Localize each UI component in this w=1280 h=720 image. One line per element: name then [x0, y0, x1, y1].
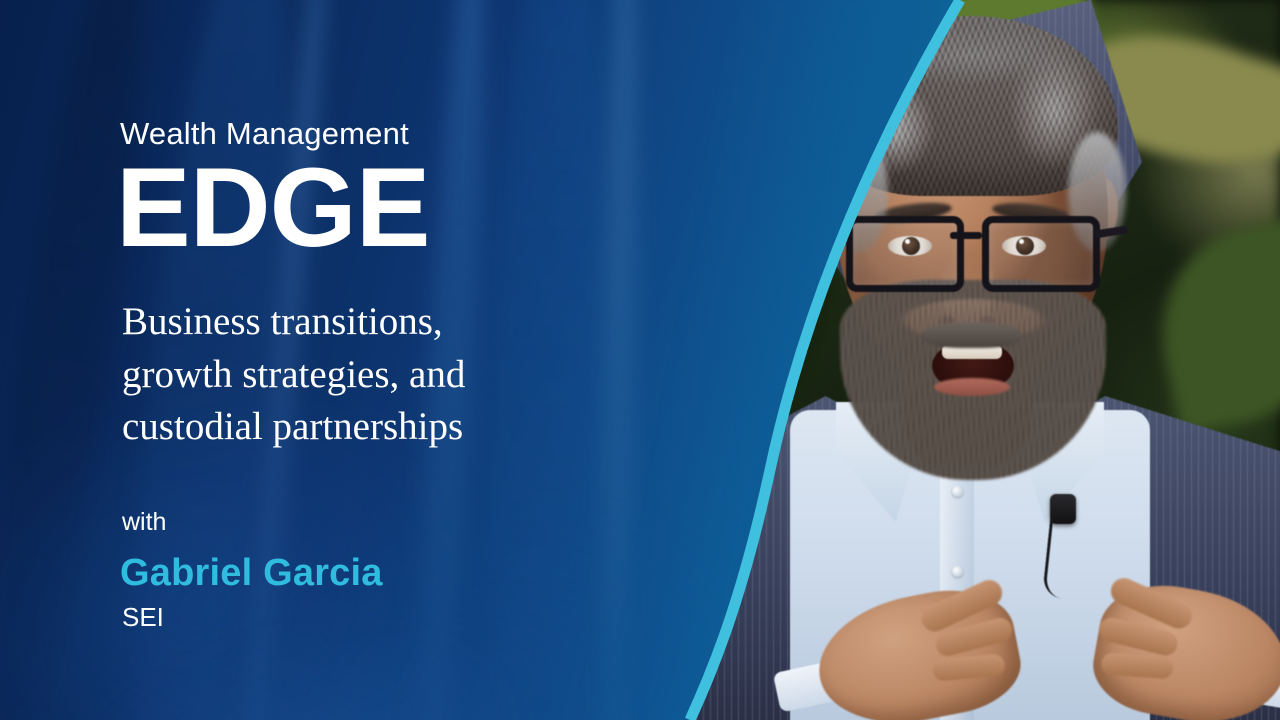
episode-title-line-3: custodial partnerships [122, 401, 592, 454]
program-wordmark: EDGE [116, 152, 429, 264]
video-title-card: Wealth Management EDGE Business transiti… [0, 0, 1280, 720]
eyeglasses [846, 216, 1100, 284]
speaker-organization: SEI [122, 602, 164, 633]
finger [932, 653, 1006, 681]
speaker-name: Gabriel Garcia [120, 552, 383, 595]
lower-lip [934, 378, 1010, 396]
glasses-bridge [950, 232, 982, 239]
finger [1101, 652, 1174, 679]
shirt-button [952, 566, 963, 577]
episode-title-line-1: Business transitions, [122, 296, 592, 349]
mustache [922, 322, 1022, 348]
glasses-lens-left [846, 216, 964, 292]
episode-title: Business transitions, growth strategies,… [122, 296, 592, 454]
episode-title-line-2: growth strategies, and [122, 349, 592, 402]
shirt-button [952, 486, 963, 497]
glasses-lens-right [982, 216, 1100, 292]
with-label: with [122, 508, 166, 537]
title-copy-block: Wealth Management EDGE Business transiti… [120, 0, 640, 720]
